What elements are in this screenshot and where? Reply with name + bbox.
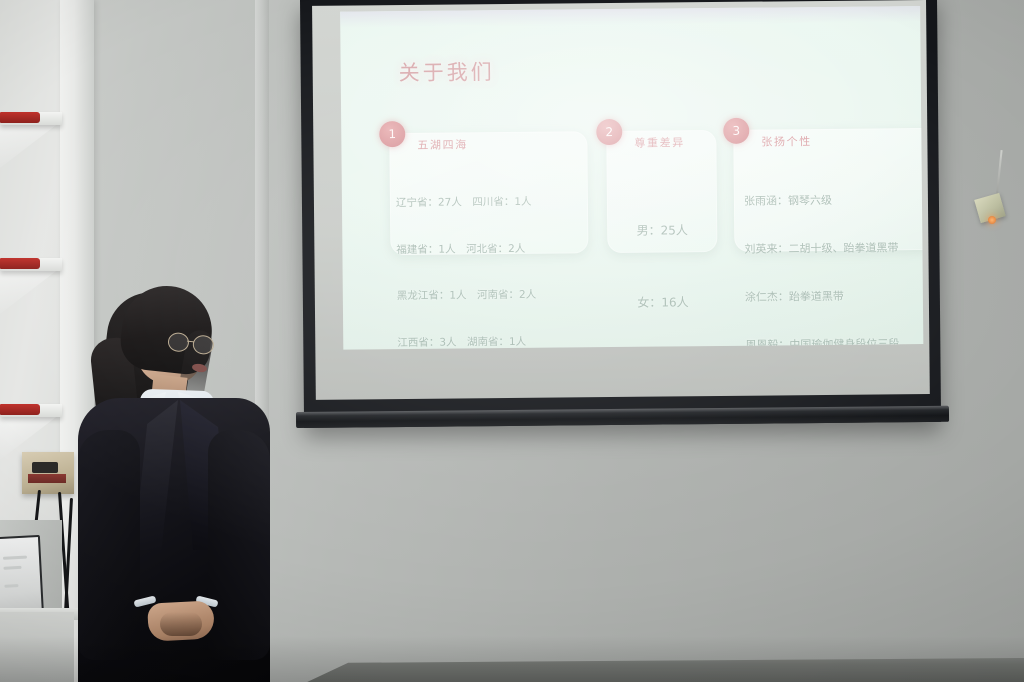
photo-vignette: [0, 0, 1024, 682]
classroom-presentation-photo: 关于我们 1 五湖四海 辽宁省：27人 四川省：1人 福建省：1人 河北省：2人…: [0, 0, 1024, 682]
